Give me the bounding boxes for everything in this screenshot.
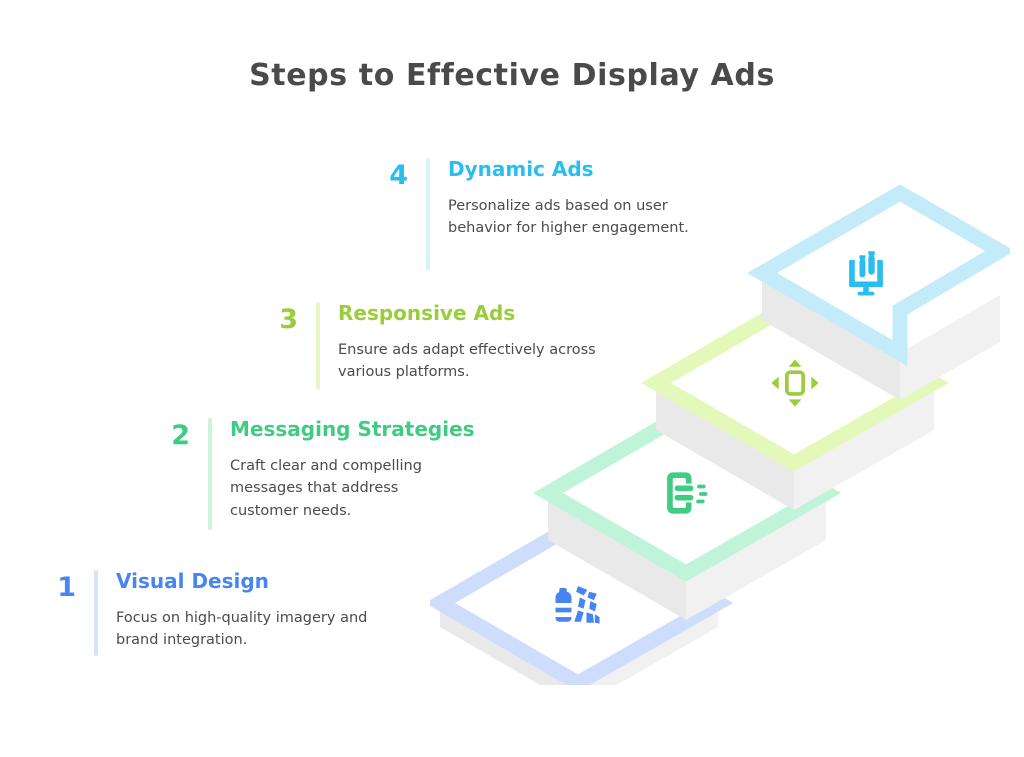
step-block-2: 2 Messaging Strategies Craft clear and c… (148, 418, 528, 530)
step-heading-3: Responsive Ads (338, 302, 598, 325)
step-description-2: Craft clear and compelling messages that… (230, 455, 462, 522)
step-heading-2: Messaging Strategies (230, 418, 475, 441)
responsive-resize-icon (759, 347, 831, 419)
step-number-2: 2 (148, 418, 190, 449)
step-heading-1: Visual Design (116, 570, 391, 593)
step-block-1: 1 Visual Design Focus on high-quality im… (34, 570, 434, 656)
step-number-3: 3 (256, 302, 298, 333)
step-description-1: Focus on high-quality imagery and brand … (116, 607, 391, 652)
spray-paint-icon (542, 567, 614, 639)
step-number-1: 1 (34, 570, 76, 601)
infographic-canvas: Steps to Effective Display Ads (0, 0, 1024, 757)
step-divider-3 (316, 302, 320, 390)
step-divider-2 (208, 418, 212, 530)
monitor-rockets-icon (830, 237, 902, 309)
step-divider-1 (94, 570, 98, 656)
step-description-3: Ensure ads adapt effectively across vari… (338, 339, 598, 384)
step-block-4: 4 Dynamic Ads Personalize ads based on u… (366, 158, 736, 270)
step-divider-4 (426, 158, 430, 270)
step-number-4: 4 (366, 158, 408, 189)
step-description-4: Personalize ads based on user behavior f… (448, 195, 723, 240)
step-heading-4: Dynamic Ads (448, 158, 723, 181)
message-lines-icon (648, 457, 720, 529)
step-block-3: 3 Responsive Ads Ensure ads adapt effect… (256, 302, 626, 390)
page-title: Steps to Effective Display Ads (0, 58, 1024, 93)
